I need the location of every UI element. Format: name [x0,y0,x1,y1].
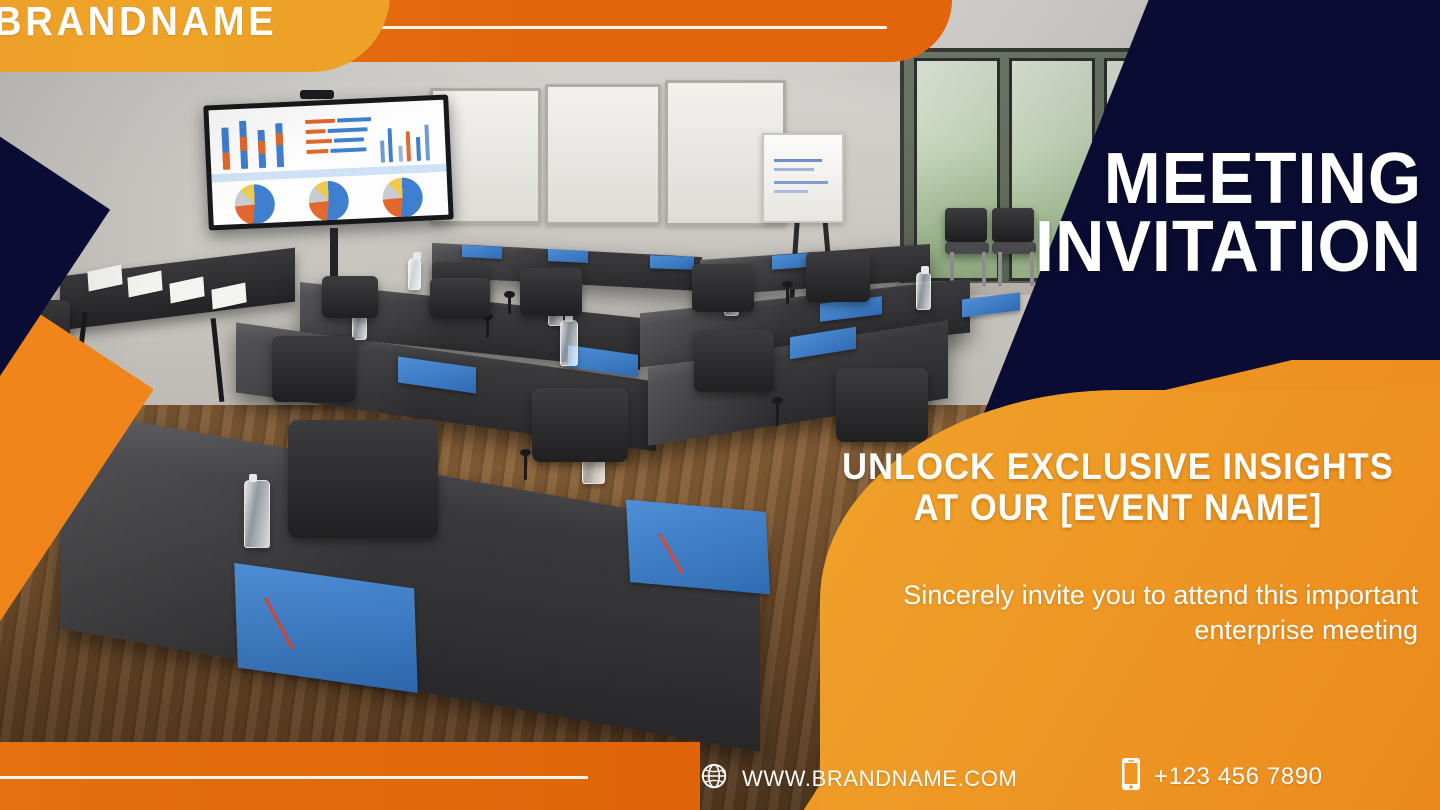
brand-banner: BRANDNAME [0,0,390,72]
globe-icon [700,761,730,796]
website-contact[interactable]: WWW.BRANDNAME.COM [700,761,1017,796]
title-line-1: MEETING [890,146,1422,214]
invitation-poster: BRANDNAME MEETING INVITATION UNLOCK EXCL… [0,0,1440,810]
subtext-line-1: Sincerely invite you to attend this impo… [778,578,1418,613]
brand-name: BRANDNAME [0,0,277,44]
title-line-2: INVITATION [890,214,1422,282]
page-title: MEETING INVITATION [862,146,1422,281]
phone-text: +123 456 7890 [1154,763,1323,791]
phone-contact[interactable]: +123 456 7890 [1120,757,1323,796]
headline-line-2: AT OUR [EVENT NAME] [839,487,1397,528]
subtext-line-2: enterprise meeting [778,613,1418,648]
invitation-subtext: Sincerely invite you to attend this impo… [778,578,1418,647]
headline-line-1: UNLOCK EXCLUSIVE INSIGHTS [839,446,1397,487]
website-text: WWW.BRANDNAME.COM [742,766,1017,792]
headline: UNLOCK EXCLUSIVE INSIGHTS AT OUR [EVENT … [818,446,1418,529]
phone-icon [1120,757,1142,796]
footer: WWW.BRANDNAME.COM +123 456 7890 [0,742,1440,810]
